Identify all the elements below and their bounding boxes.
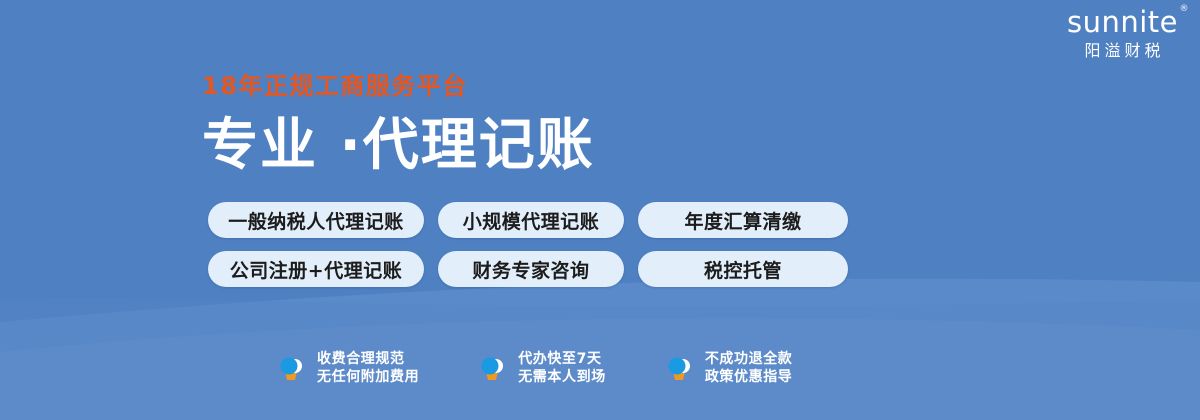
feature-line-1: 不成功退全款 [705, 350, 793, 368]
logo-subtitle: 阳溢财税 [1067, 44, 1178, 60]
service-pill-company-registration[interactable]: 公司注册+代理记账 [208, 251, 424, 287]
badge-icon [477, 353, 507, 383]
feature-text-guarantee: 不成功退全款 政策优惠指导 [705, 350, 793, 387]
headline-block: 18年正规工商服务平台 专业 ·代理记账 [202, 74, 595, 174]
feature-line-2: 无需本人到场 [518, 368, 606, 386]
feature-text-speed: 代办快至7天 无需本人到场 [518, 350, 606, 387]
page-title: 专业 ·代理记账 [202, 118, 595, 174]
registered-trademark-icon: ® [1180, 5, 1190, 14]
service-pill-row-2: 公司注册+代理记账 财务专家咨询 税控托管 [208, 251, 848, 287]
feature-item-guarantee: 不成功退全款 政策优惠指导 [664, 350, 793, 387]
feature-text-pricing: 收费合理规范 无任何附加费用 [317, 350, 419, 387]
service-pill-group: 一般纳税人代理记账 小规模代理记账 年度汇算清缴 公司注册+代理记账 财务专家咨… [208, 202, 848, 300]
badge-icon [664, 353, 694, 383]
service-pill-tax-control-hosting[interactable]: 税控托管 [638, 251, 848, 287]
feature-line-1: 收费合理规范 [317, 350, 419, 368]
eyebrow-text: 18年正规工商服务平台 [202, 74, 595, 98]
feature-line-1: 代办快至7天 [518, 350, 606, 368]
feature-line-2: 政策优惠指导 [705, 368, 793, 386]
feature-line-2: 无任何附加费用 [317, 368, 419, 386]
feature-item-pricing: 收费合理规范 无任何附加费用 [276, 350, 419, 387]
service-pill-small-scale[interactable]: 小规模代理记账 [438, 202, 624, 238]
service-pill-finance-consulting[interactable]: 财务专家咨询 [438, 251, 624, 287]
feature-list: 收费合理规范 无任何附加费用 代办快至7天 无需本人到场 不成功退全款 [276, 350, 792, 387]
service-pill-annual-settlement[interactable]: 年度汇算清缴 [638, 202, 848, 238]
logo-wordmark-text: sunnite [1067, 5, 1178, 39]
service-pill-general-taxpayer[interactable]: 一般纳税人代理记账 [208, 202, 424, 238]
badge-icon [276, 353, 306, 383]
promo-banner: sunnite ® 阳溢财税 18年正规工商服务平台 专业 ·代理记账 一般纳税… [0, 0, 1200, 420]
logo-wordmark: sunnite ® [1067, 8, 1178, 37]
brand-logo: sunnite ® 阳溢财税 [1067, 8, 1178, 60]
feature-item-speed: 代办快至7天 无需本人到场 [477, 350, 606, 387]
service-pill-row-1: 一般纳税人代理记账 小规模代理记账 年度汇算清缴 [208, 202, 848, 238]
